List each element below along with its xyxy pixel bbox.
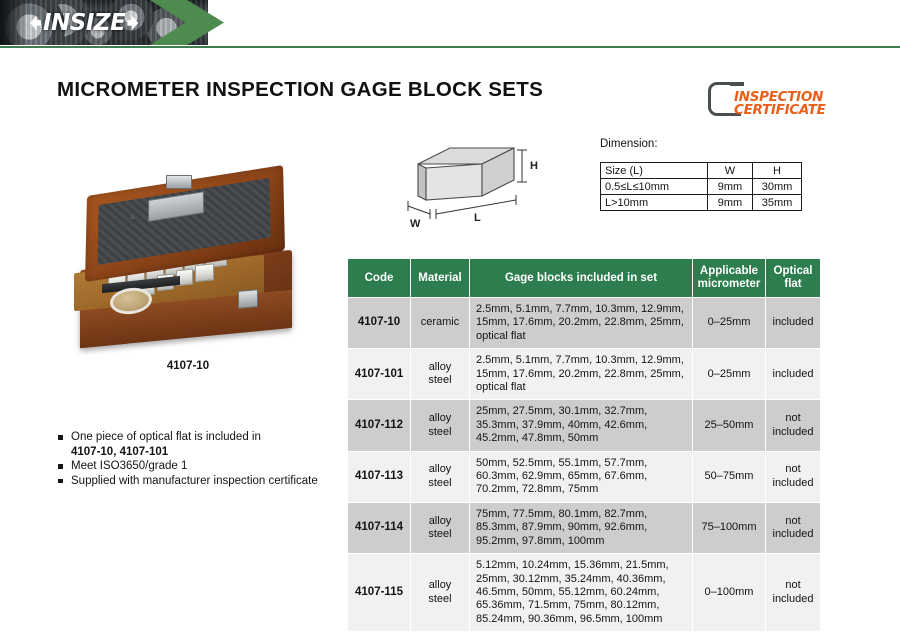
note-codes: 4107-10, 4107-101	[71, 446, 168, 458]
cell-material: alloy steel	[411, 503, 469, 553]
cell-applicable-micrometer: 50–75mm	[693, 452, 765, 502]
cell-applicable-micrometer: 0–100mm	[693, 554, 765, 631]
gage-block	[195, 263, 214, 282]
header-divider-rule	[0, 46, 900, 48]
dim-cell-h: 35mm	[753, 195, 802, 211]
table-row[interactable]: 4107-10 ceramic 2.5mm, 5.1mm, 7.7mm, 10.…	[348, 298, 820, 348]
dim-cell-h: 30mm	[753, 179, 802, 195]
certificate-line2: CERTIFICATE	[734, 102, 826, 118]
cell-optical-flat: included	[766, 349, 820, 399]
product-specification-table: Code Material Gage blocks included in se…	[347, 258, 821, 632]
note-text: One piece of optical flat is included in	[71, 431, 261, 443]
column-header-code: Code	[348, 259, 410, 297]
insize-logo-text: INSIZE	[43, 12, 125, 35]
block-diagram-label-l: L	[474, 212, 481, 224]
cell-material: alloy steel	[411, 554, 469, 631]
table-row: L>10mm 9mm 35mm	[601, 195, 802, 211]
cell-code: 4107-115	[348, 554, 410, 631]
cell-gage-blocks: 25mm, 27.5mm, 30.1mm, 32.7mm, 35.3mm, 37…	[470, 400, 692, 450]
lid-clasp-icon	[166, 175, 192, 189]
table-row[interactable]: 4107-112 alloy steel 25mm, 27.5mm, 30.1m…	[348, 400, 820, 450]
list-item: One piece of optical flat is included in…	[58, 430, 343, 459]
table-row[interactable]: 4107-114 alloy steel 75mm, 77.5mm, 80.1m…	[348, 503, 820, 553]
cell-applicable-micrometer: 0–25mm	[693, 298, 765, 348]
cell-applicable-micrometer: 75–100mm	[693, 503, 765, 553]
dim-cell-w: 9mm	[708, 179, 753, 195]
dim-cell-size: 0.5≤L≤10mm	[601, 179, 708, 195]
cell-optical-flat: not included	[766, 400, 820, 450]
dim-header-size: Size (L)	[601, 163, 708, 179]
cell-code: 4107-112	[348, 400, 410, 450]
wooden-gage-block-case-photo	[62, 172, 314, 350]
front-clasp-icon	[238, 289, 258, 309]
cell-gage-blocks: 2.5mm, 5.1mm, 7.7mm, 10.3mm, 12.9mm, 15m…	[470, 298, 692, 348]
lid-foam-lining	[97, 178, 270, 265]
table-row: 0.5≤L≤10mm 9mm 30mm	[601, 179, 802, 195]
cell-optical-flat: included	[766, 298, 820, 348]
cell-material: ceramic	[411, 298, 469, 348]
cell-code: 4107-101	[348, 349, 410, 399]
cell-material: alloy steel	[411, 400, 469, 450]
gage-block-isometric-diagram: H L W	[404, 138, 549, 238]
column-header-gage-blocks: Gage blocks included in set	[470, 259, 692, 297]
column-header-optical-flat: Optical flat	[766, 259, 820, 297]
cell-optical-flat: not included	[766, 554, 820, 631]
arrow-right-icon	[127, 16, 138, 31]
page-header-band: INSIZE	[0, 0, 900, 48]
arrow-left-icon	[30, 16, 41, 31]
table-header-row: Size (L) W H	[601, 163, 802, 179]
block-diagram-label-h: H	[530, 160, 538, 172]
certificate-label: INSPECTION CERTIFICATE	[734, 91, 826, 117]
dim-cell-size: L>10mm	[601, 195, 708, 211]
cell-code: 4107-114	[348, 503, 410, 553]
table-header-row: Code Material Gage blocks included in se…	[348, 259, 820, 297]
dimension-table-label: Dimension:	[600, 138, 658, 150]
cell-material: alloy steel	[411, 349, 469, 399]
cell-gage-blocks: 2.5mm, 5.1mm, 7.7mm, 10.3mm, 12.9mm, 15m…	[470, 349, 692, 399]
inspection-certificate-badge: INSPECTION CERTIFICATE	[708, 82, 826, 122]
cell-applicable-micrometer: 0–25mm	[693, 349, 765, 399]
cell-applicable-micrometer: 25–50mm	[693, 400, 765, 450]
table-row[interactable]: 4107-115 alloy steel 5.12mm, 10.24mm, 15…	[348, 554, 820, 631]
dim-header-w: W	[708, 163, 753, 179]
dim-header-h: H	[753, 163, 802, 179]
dimension-table: Size (L) W H 0.5≤L≤10mm 9mm 30mm L>10mm …	[600, 162, 802, 211]
machinery-photo-shadow	[0, 0, 26, 45]
block-diagram-label-w: W	[410, 218, 421, 230]
column-header-applicable-micrometer: Applicable micrometer	[693, 259, 765, 297]
list-item: Supplied with manufacturer inspection ce…	[58, 474, 343, 489]
cell-code: 4107-113	[348, 452, 410, 502]
cell-material: alloy steel	[411, 452, 469, 502]
table-row[interactable]: 4107-113 alloy steel 50mm, 52.5mm, 55.1m…	[348, 452, 820, 502]
block-diagram-svg: H L W	[404, 138, 549, 238]
cell-gage-blocks: 5.12mm, 10.24mm, 15.36mm, 21.5mm, 25mm, …	[470, 554, 692, 631]
page-title: MICROMETER INSPECTION GAGE BLOCK SETS	[57, 78, 543, 102]
insize-logo[interactable]: INSIZE	[30, 11, 138, 35]
list-item: Meet ISO3650/grade 1	[58, 459, 343, 474]
cell-optical-flat: not included	[766, 503, 820, 553]
dim-cell-w: 9mm	[708, 195, 753, 211]
product-photo-caption: 4107-10	[62, 360, 314, 372]
certificate-bracket-top-icon	[730, 82, 744, 86]
cell-optical-flat: not included	[766, 452, 820, 502]
cell-code: 4107-10	[348, 298, 410, 348]
column-header-material: Material	[411, 259, 469, 297]
product-notes-list: One piece of optical flat is included in…	[58, 430, 343, 488]
cell-gage-blocks: 75mm, 77.5mm, 80.1mm, 82.7mm, 85.3mm, 87…	[470, 503, 692, 553]
cell-gage-blocks: 50mm, 52.5mm, 55.1mm, 57.7mm, 60.3mm, 62…	[470, 452, 692, 502]
note-text: Supplied with manufacturer inspection ce…	[71, 475, 318, 487]
table-row[interactable]: 4107-101 alloy steel 2.5mm, 5.1mm, 7.7mm…	[348, 349, 820, 399]
note-text: Meet ISO3650/grade 1	[71, 460, 187, 472]
